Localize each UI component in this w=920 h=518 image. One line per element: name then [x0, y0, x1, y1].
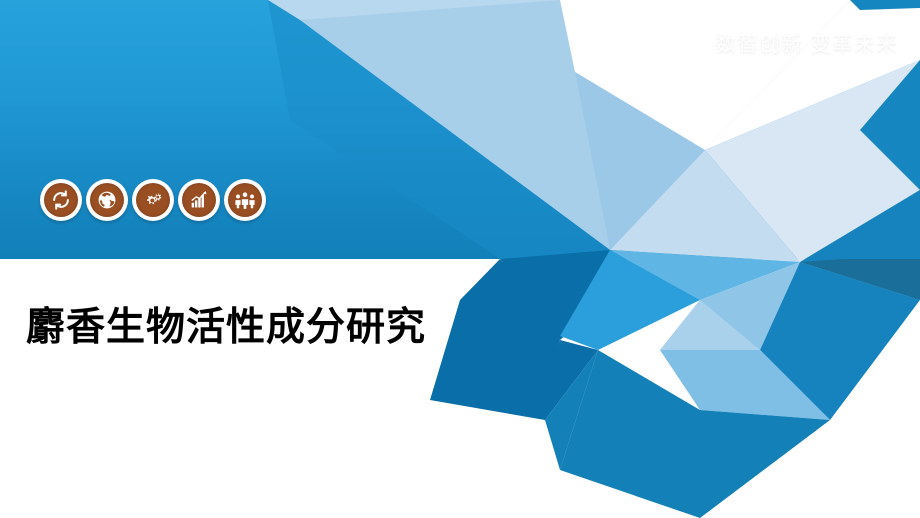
bar-chart-growth-icon [182, 183, 216, 217]
globe-icon [90, 183, 124, 217]
icon-row [40, 179, 266, 221]
icon-button-recycle[interactable] [40, 179, 82, 221]
page-title: 麝香生物活性成分研究 [26, 296, 426, 352]
slide-tagline: 数智创新 变革未来 [715, 28, 898, 58]
icon-button-globe[interactable] [86, 179, 128, 221]
icon-button-team[interactable] [224, 179, 266, 221]
presentation-title-slide: 数智创新 变革未来 [0, 0, 920, 518]
team-people-icon [228, 183, 262, 217]
icon-button-gears[interactable] [132, 179, 174, 221]
recycle-refresh-icon [44, 183, 78, 217]
gears-icon [136, 183, 170, 217]
icon-button-growth-chart[interactable] [178, 179, 220, 221]
